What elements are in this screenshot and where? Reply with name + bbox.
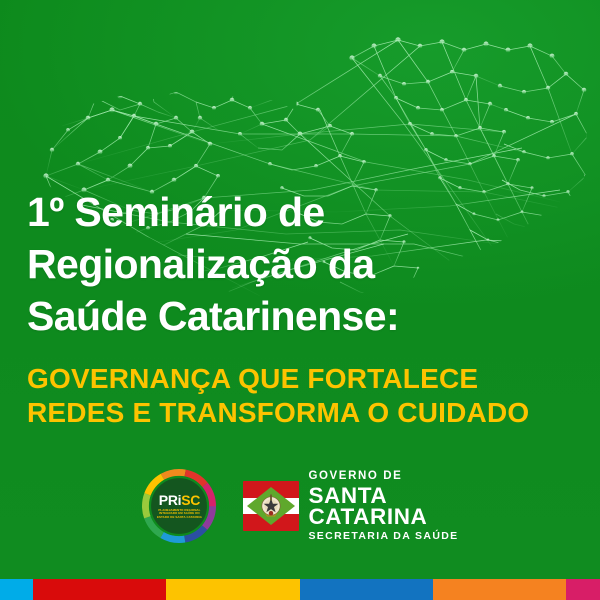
title-line-1: 1º Seminário de	[27, 186, 575, 238]
government-logo-text: GOVERNO DE SANTA CATARINA SECRETARIA DA …	[308, 471, 458, 541]
event-poster: 1º Seminário de Regionalização da Saúde …	[0, 0, 600, 600]
color-segment-yellow	[166, 579, 300, 600]
gov-line-secretaria: SECRETARIA DA SAÚDE	[308, 531, 458, 542]
color-segment-magenta	[566, 579, 600, 600]
subtitle-line-1: GOVERNANÇA QUE FORTALECE	[27, 362, 579, 396]
gov-line-governo-de: GOVERNO DE	[308, 471, 458, 483]
gov-line-catarina: CATARINA	[308, 506, 458, 528]
color-segment-red	[33, 579, 166, 600]
title-line-2: Regionalização da	[27, 238, 575, 290]
prisc-logo: PRiSC PLANEJAMENTO REGIONAL INTEGRADO EM…	[141, 468, 217, 544]
logo-row: PRiSC PLANEJAMENTO REGIONAL INTEGRADO EM…	[0, 466, 600, 546]
gov-line-santa: SANTA	[308, 485, 458, 506]
color-segment-orange	[433, 579, 566, 600]
poster-title: 1º Seminário de Regionalização da Saúde …	[27, 186, 575, 342]
color-segment-cyan	[0, 579, 33, 600]
bottom-color-bar	[0, 579, 600, 600]
color-segment-blue	[300, 579, 433, 600]
poster-subtitle: GOVERNANÇA QUE FORTALECE REDES E TRANSFO…	[27, 362, 579, 430]
subtitle-line-2: REDES E TRANSFORMA O CUIDADO	[27, 396, 579, 430]
government-logo: GOVERNO DE SANTA CATARINA SECRETARIA DA …	[243, 471, 458, 541]
title-line-3: Saúde Catarinense:	[27, 290, 575, 342]
santa-catarina-flag-icon	[243, 481, 299, 531]
